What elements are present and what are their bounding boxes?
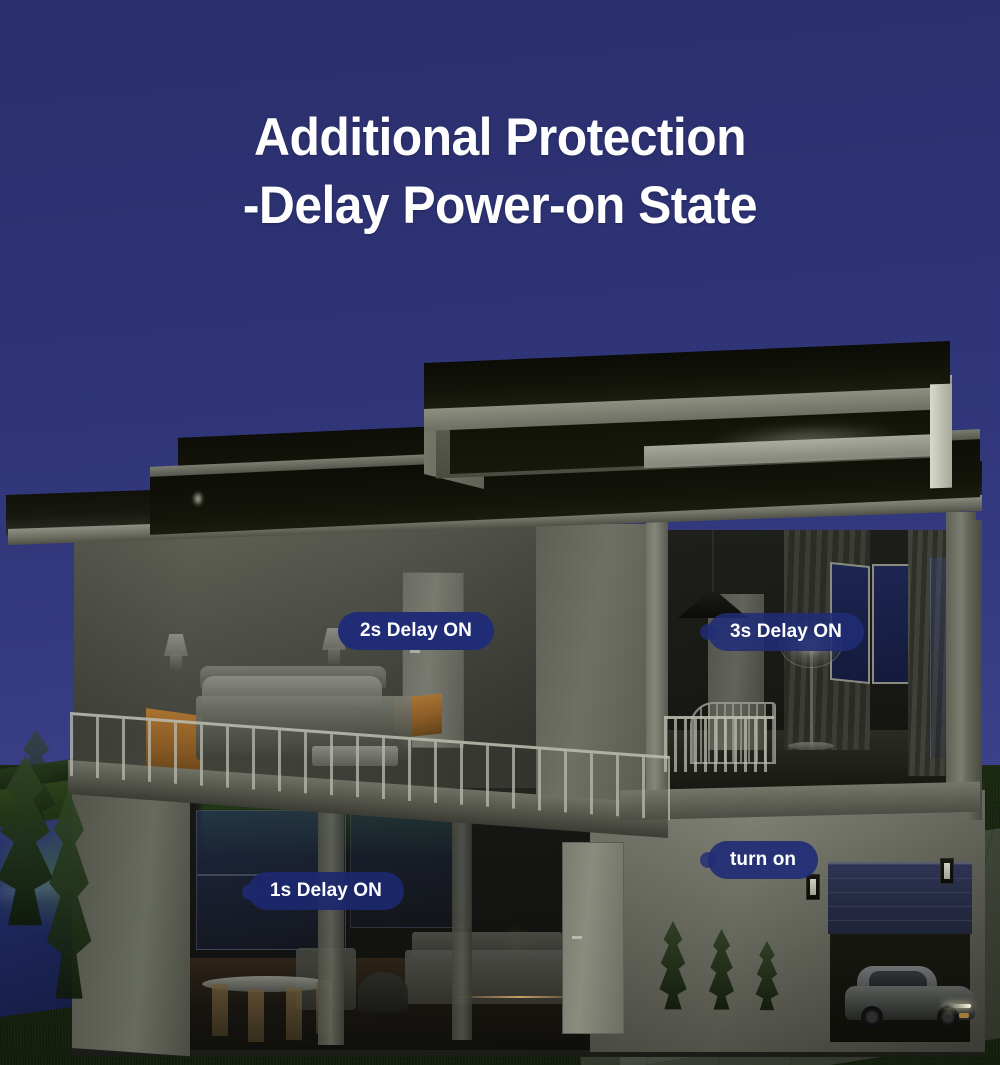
car-wheel	[861, 1006, 883, 1028]
living-room-interior	[190, 800, 590, 1050]
badge-turn-on[interactable]: turn on	[708, 841, 818, 879]
car	[845, 966, 975, 1028]
ground-floor-column-2	[452, 800, 472, 1040]
badge-delay-1s[interactable]: 1s Delay ON	[248, 872, 404, 910]
car-wheel	[937, 1006, 959, 1028]
ground-floor-left-pier	[72, 790, 190, 1056]
pendant-lamp-cord	[712, 530, 714, 596]
ottoman	[358, 972, 408, 1012]
modern-house	[0, 0, 1000, 1065]
badge-delay-2s[interactable]: 2s Delay ON	[338, 612, 494, 650]
bedroom-door-handle-icon	[410, 650, 420, 653]
dining-chair	[212, 984, 228, 1036]
standing-fan-base	[788, 742, 834, 750]
balcony-railing-right	[664, 716, 774, 772]
second-floor-right-edge	[966, 520, 982, 820]
scene-stage: Additional Protection -Delay Power-on St…	[0, 0, 1000, 1065]
wall-sconce-base	[328, 648, 340, 664]
roof-spotlight-icon	[190, 490, 206, 512]
wall-lantern-icon	[940, 858, 954, 884]
window	[872, 564, 910, 684]
car-headlight-icon	[945, 1004, 971, 1008]
wall-lantern-icon	[806, 874, 820, 900]
penthouse-post	[930, 384, 952, 489]
front-door-handle-icon	[572, 936, 582, 939]
wall-sconce-base	[170, 654, 182, 670]
dining-chair	[248, 990, 264, 1042]
wall-sconce-icon	[164, 634, 188, 656]
car-indicator-icon	[959, 1013, 969, 1018]
badge-delay-3s[interactable]: 3s Delay ON	[708, 613, 864, 651]
ground-floor-column	[318, 795, 344, 1045]
dining-chair	[286, 988, 302, 1040]
